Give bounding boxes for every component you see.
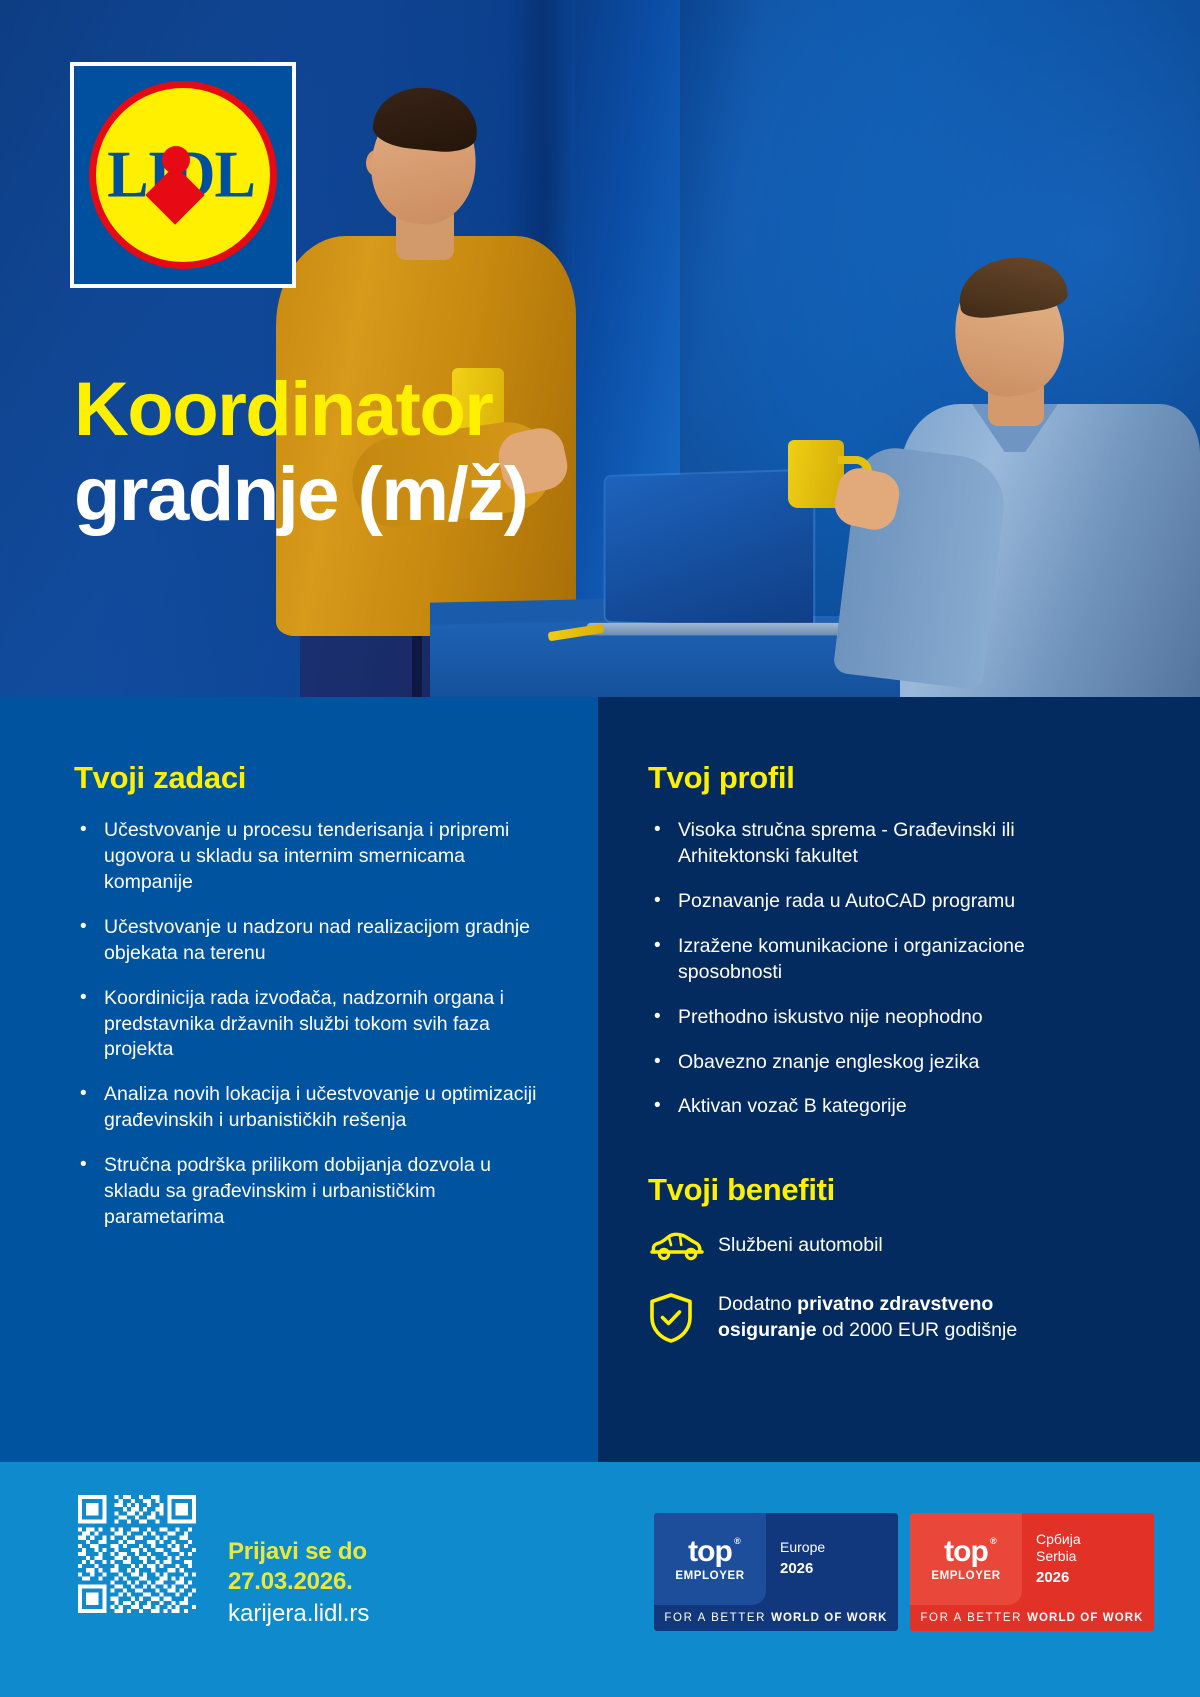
list-item: Izražene komunikacione i organizacione s… — [648, 934, 1078, 986]
benefit-label: Dodatno privatno zdravstveno osiguranje … — [718, 1292, 1078, 1344]
lidl-logo-circle: LIDL — [89, 81, 277, 269]
apply-deadline-label: Prijavi se do — [228, 1537, 369, 1567]
badge-logo-sub: EMPLOYER — [931, 1570, 1000, 1582]
list-item: Stručna podrška prilikom dobijanja dozvo… — [74, 1153, 544, 1231]
profile-list: Visoka stručna sprema - Građevinski ili … — [648, 818, 1078, 1120]
profile-heading: Tvoj profil — [648, 760, 1078, 796]
badge-logo-word: top® — [688, 1537, 732, 1567]
benefit-text-suffix: od 2000 EUR godišnje — [817, 1319, 1018, 1341]
list-item: Analiza novih lokacija i učestvovanje u … — [74, 1082, 544, 1134]
badge-tagline-bold: WORLD OF WORK — [1027, 1612, 1144, 1624]
badge-tagline: FOR A BETTER WORLD OF WORK — [910, 1605, 1154, 1631]
badge-meta: Europe 2026 — [766, 1513, 898, 1605]
badge-region-line-1: Europe — [780, 1539, 898, 1557]
badge-region-line-2: Serbia — [1036, 1548, 1154, 1566]
job-title-line-1: Koordinator — [74, 370, 774, 451]
list-item: Koordinicija rada izvođača, nadzornih or… — [74, 986, 544, 1064]
list-item: Aktivan vozač B kategorije — [648, 1094, 1078, 1120]
badge-logo-word: top® — [944, 1537, 988, 1567]
qr-code[interactable] — [78, 1495, 196, 1613]
badge-year: 2026 — [780, 1560, 898, 1579]
list-item: Učestvovanje u nadzoru nad realizacijom … — [74, 915, 544, 967]
badge-year: 2026 — [1036, 1569, 1154, 1588]
badge-top: top® EMPLOYER Србија Serbia 2026 — [910, 1513, 1154, 1605]
list-item: Učestvovanje u procesu tenderisanja i pr… — [74, 818, 544, 896]
benefit-company-car: Službeni automobil — [648, 1230, 1078, 1262]
tasks-heading: Tvoji zadaci — [74, 760, 544, 796]
lidl-logo: LIDL — [70, 62, 296, 288]
top-employer-europe-badge: top® EMPLOYER Europe 2026 FOR A BETTER W… — [654, 1513, 898, 1631]
list-item: Prethodno iskustvo nije neophodno — [648, 1005, 1078, 1031]
list-item: Obavezno znanje engleskog jezika — [648, 1050, 1078, 1076]
badge-tagline: FOR A BETTER WORLD OF WORK — [654, 1605, 898, 1631]
tasks-section: Tvoji zadaci Učestvovanje u procesu tend… — [74, 760, 544, 1250]
apply-block: Prijavi se do 27.03.2026. karijera.lidl.… — [228, 1537, 369, 1628]
list-item: Visoka stručna sprema - Građevinski ili … — [648, 818, 1078, 870]
badge-tagline-bold: WORLD OF WORK — [771, 1612, 888, 1624]
benefit-label: Službeni automobil — [718, 1233, 883, 1259]
list-item: Poznavanje rada u AutoCAD programu — [648, 889, 1078, 915]
laptop-keyboard — [584, 623, 844, 636]
badge-meta: Србија Serbia 2026 — [1022, 1513, 1154, 1605]
badge-tagline-thin: FOR A BETTER — [664, 1612, 766, 1624]
tasks-list: Učestvovanje u procesu tenderisanja i pr… — [74, 818, 544, 1231]
job-ad-poster: LIDL Koordinator gradnje (m/ž) Tvoji zad… — [0, 0, 1200, 1697]
benefit-text-prefix: Dodatno — [718, 1293, 797, 1315]
shield-check-icon — [648, 1292, 718, 1344]
top-employer-logo: top® EMPLOYER — [654, 1513, 766, 1605]
top-employer-serbia-badge: top® EMPLOYER Србија Serbia 2026 FOR A B… — [910, 1513, 1154, 1631]
careers-url[interactable]: karijera.lidl.rs — [228, 1599, 369, 1629]
job-title: Koordinator gradnje (m/ž) — [74, 370, 774, 535]
top-employer-logo: top® EMPLOYER — [910, 1513, 1022, 1605]
lidl-logo-dot — [162, 146, 190, 174]
benefits-heading: Tvoji benefiti — [648, 1172, 1078, 1208]
badge-top: top® EMPLOYER Europe 2026 — [654, 1513, 898, 1605]
job-title-line-2: gradnje (m/ž) — [74, 455, 774, 536]
apply-deadline-date: 27.03.2026. — [228, 1567, 369, 1597]
car-icon — [648, 1230, 718, 1262]
benefit-health-insurance: Dodatno privatno zdravstveno osiguranje … — [648, 1292, 1078, 1344]
profile-section: Tvoj profil Visoka stručna sprema - Građ… — [648, 760, 1078, 1374]
badge-region-line-1: Србија — [1036, 1531, 1154, 1549]
badge-tagline-thin: FOR A BETTER — [920, 1612, 1022, 1624]
badge-logo-sub: EMPLOYER — [675, 1570, 744, 1582]
